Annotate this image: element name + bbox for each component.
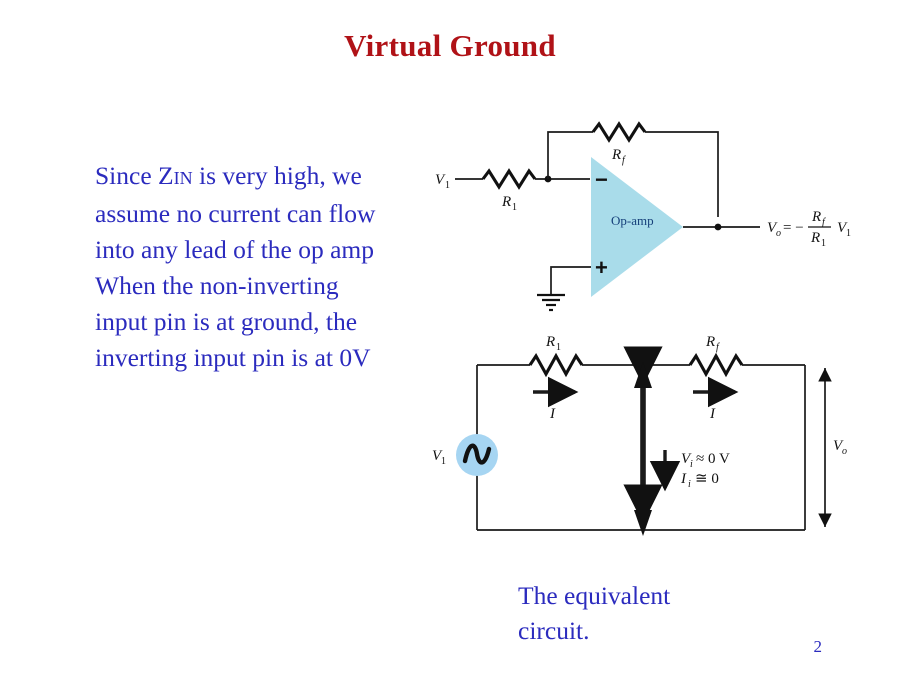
ground-symbol [537,295,565,310]
op-amp-label: Op-amp [611,213,654,228]
page-number: 2 [814,637,823,657]
inverting-op-amp-figure: Op-amp − + V 1 R 1 [415,105,895,320]
svg-text:I: I [680,471,687,487]
caption-line-1: The equivalent [518,578,768,613]
virtual-ground-arrow [634,362,652,536]
inverting-pin-label: − [595,167,608,192]
svg-text:R: R [501,194,511,210]
input-voltage-label: V 1 [435,172,450,191]
svg-text:I: I [709,406,716,422]
svg-text:= −: = − [783,220,804,236]
current-arrow-left: I [533,392,575,422]
noninverting-pin-label: + [595,255,608,280]
svg-text:1: 1 [512,202,517,213]
r1-label: R 1 [501,194,517,213]
current-arrow-right: I [693,392,735,422]
svg-text:≅ 0: ≅ 0 [695,471,719,487]
rf-label: R f [705,334,720,353]
vi-ii-annotation: V i ≈ 0 V I i ≅ 0 [665,450,730,490]
paragraph-1: Since ZIN is very high, we assume no cur… [95,158,385,268]
svg-text:I: I [549,406,556,422]
svg-text:1: 1 [441,456,446,467]
body-text-block: Since ZIN is very high, we assume no cur… [95,158,385,376]
paragraph-1-subscript: IN [174,168,193,188]
svg-text:1: 1 [556,342,561,353]
svg-text:f: f [716,342,720,353]
svg-text:R: R [705,334,715,350]
svg-text:o: o [842,446,847,457]
svg-text:i: i [688,479,691,490]
ac-source [456,434,498,476]
svg-text:f: f [622,155,626,166]
svg-text:1: 1 [445,180,450,191]
svg-text:R: R [545,334,555,350]
output-equation: V o = − R f R 1 V 1 [767,209,851,249]
output-node-dot [715,224,722,231]
equivalent-circuit-figure: V 1 I I R 1 R [415,330,895,565]
paragraph-1-pre: Since Z [95,161,174,190]
svg-text:1: 1 [846,228,851,239]
svg-text:R: R [611,147,621,163]
svg-text:R: R [810,230,820,246]
source-voltage-label: V 1 [432,448,446,467]
slide-root: Virtual Ground Since ZIN is very high, w… [0,0,900,675]
page-title: Virtual Ground [0,28,900,64]
paragraph-2: When the non-inverting input pin is at g… [95,268,385,376]
caption-line-2: circuit. [518,613,768,648]
svg-text:1: 1 [821,238,826,249]
rf-label: R f [611,147,626,166]
svg-text:R: R [811,209,821,225]
output-voltage-arrow: V o [825,368,847,527]
r1-label: R 1 [545,334,561,353]
svg-text:o: o [776,228,781,239]
svg-text:i: i [690,459,693,470]
svg-text:≈ 0 V: ≈ 0 V [696,451,730,467]
figure-caption: The equivalent circuit. [518,578,768,648]
svg-text:f: f [822,217,826,228]
